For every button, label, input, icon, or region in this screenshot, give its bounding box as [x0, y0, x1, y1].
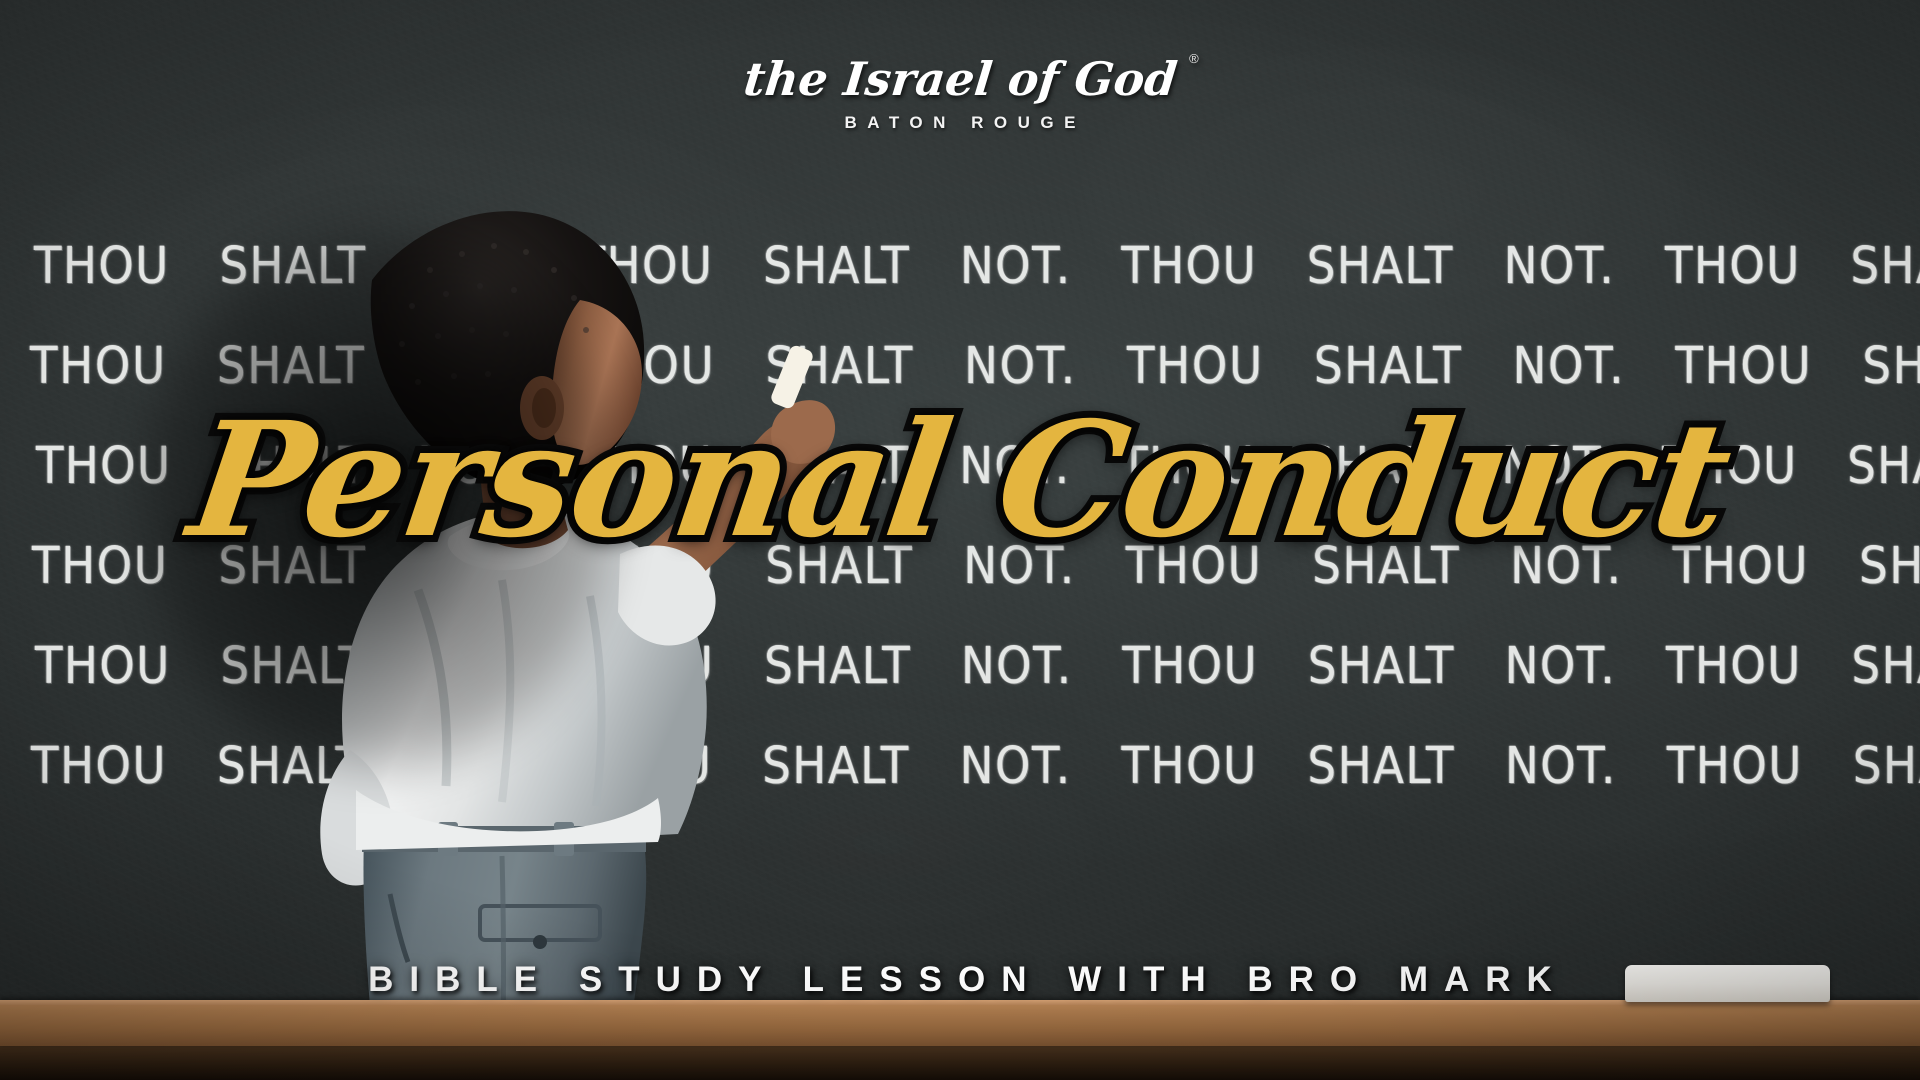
- brand-logo: the Israel of God ® BATON ROUGE: [0, 56, 1920, 133]
- lesson-caption: BIBLE STUDY LESSON WITH BRO MARK: [0, 960, 1920, 1000]
- lesson-title-card: THOU SHALT NOT. THOU SHALT NOT. THOU SHA…: [0, 0, 1920, 1080]
- figure-cast-shadow: [110, 180, 750, 940]
- brand-location-text: BATON ROUGE: [0, 113, 1920, 133]
- registered-trademark-icon: ®: [1189, 52, 1199, 65]
- brand-name-text: the Israel of God: [741, 52, 1179, 106]
- boy-writing-illustration: [150, 150, 870, 1080]
- ledge-shadow: [0, 1046, 1920, 1080]
- chalkboard-ledge: [0, 1000, 1920, 1046]
- brand-script-wordmark: the Israel of God ®: [741, 56, 1179, 102]
- hand: [771, 400, 835, 464]
